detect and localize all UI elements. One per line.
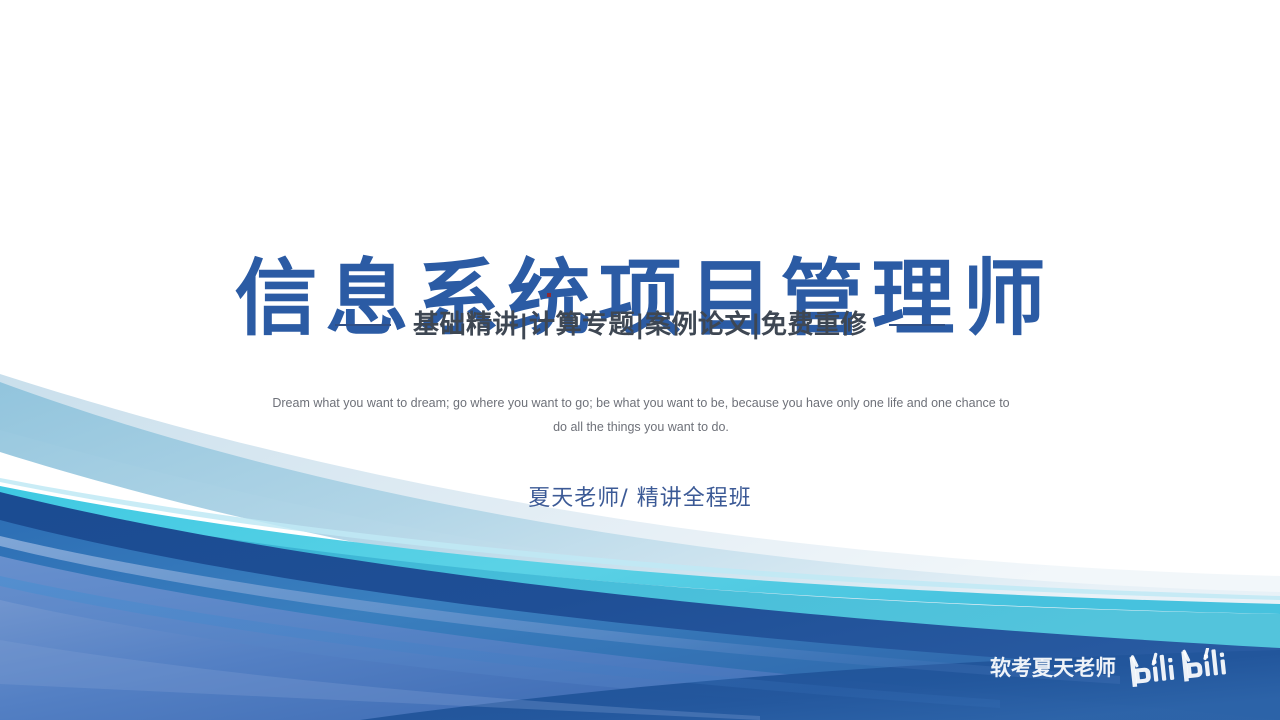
slide-content: 信息系统项目管理师 基础精讲|计算专题|案例论文|免费重修 Dream what…	[0, 0, 1280, 720]
dash-left-icon	[335, 324, 391, 326]
presenter-line: 夏天老师/ 精讲全程班	[0, 483, 1280, 515]
motivational-quote: Dream what you want to dream; go where y…	[271, 391, 1011, 439]
subtitle-row: 基础精讲|计算专题|案例论文|免费重修	[0, 308, 1280, 342]
slide-subtitle: 基础精讲|计算专题|案例论文|免费重修	[413, 308, 867, 342]
bilibili-logo-icon	[1126, 648, 1234, 688]
watermark-text: 软考夏天老师	[990, 655, 1116, 681]
channel-watermark: 软考夏天老师	[990, 648, 1234, 688]
presentation-slide: 信息系统项目管理师 基础精讲|计算专题|案例论文|免费重修 Dream what…	[0, 0, 1280, 720]
dash-right-icon	[889, 324, 945, 326]
red-dot-accent	[547, 293, 551, 297]
